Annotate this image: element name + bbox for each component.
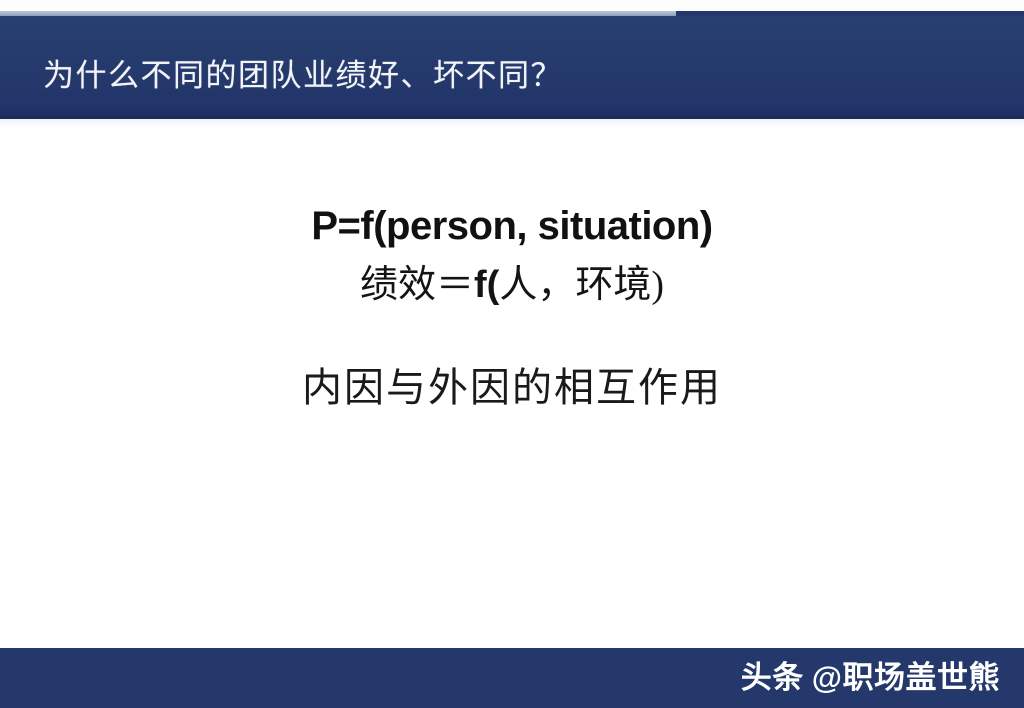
presentation-slide: 为什么不同的团队业绩好、坏不同？ P=f(person, situation) … [0,0,1024,708]
formula-chinese-args: 人，环境) [499,264,664,306]
slide-header-band: 为什么不同的团队业绩好、坏不同？ [0,16,1024,119]
formula-chinese: 绩效＝f(人，环境) [0,253,1024,308]
conclusion-text: 内因与外因的相互作用 [0,355,1024,413]
slide-body: P=f(person, situation) 绩效＝f(人，环境) 内因与外因的… [0,128,1024,648]
top-white-gap [0,0,1024,11]
slide-title: 为什么不同的团队业绩好、坏不同？ [43,57,563,95]
formula-chinese-function: f( [474,264,499,306]
watermark-handle: @职场盖世熊 [812,660,1000,695]
formula-english: P=f(person, situation) [0,204,1024,249]
watermark: 头条@职场盖世熊 [741,659,1000,697]
watermark-brand: 头条 [741,660,804,695]
header-shadow-tint [0,119,1024,128]
slide-footer-bar: 头条@职场盖世熊 [0,648,1024,708]
formula-chinese-prefix: 绩效＝ [360,264,474,306]
